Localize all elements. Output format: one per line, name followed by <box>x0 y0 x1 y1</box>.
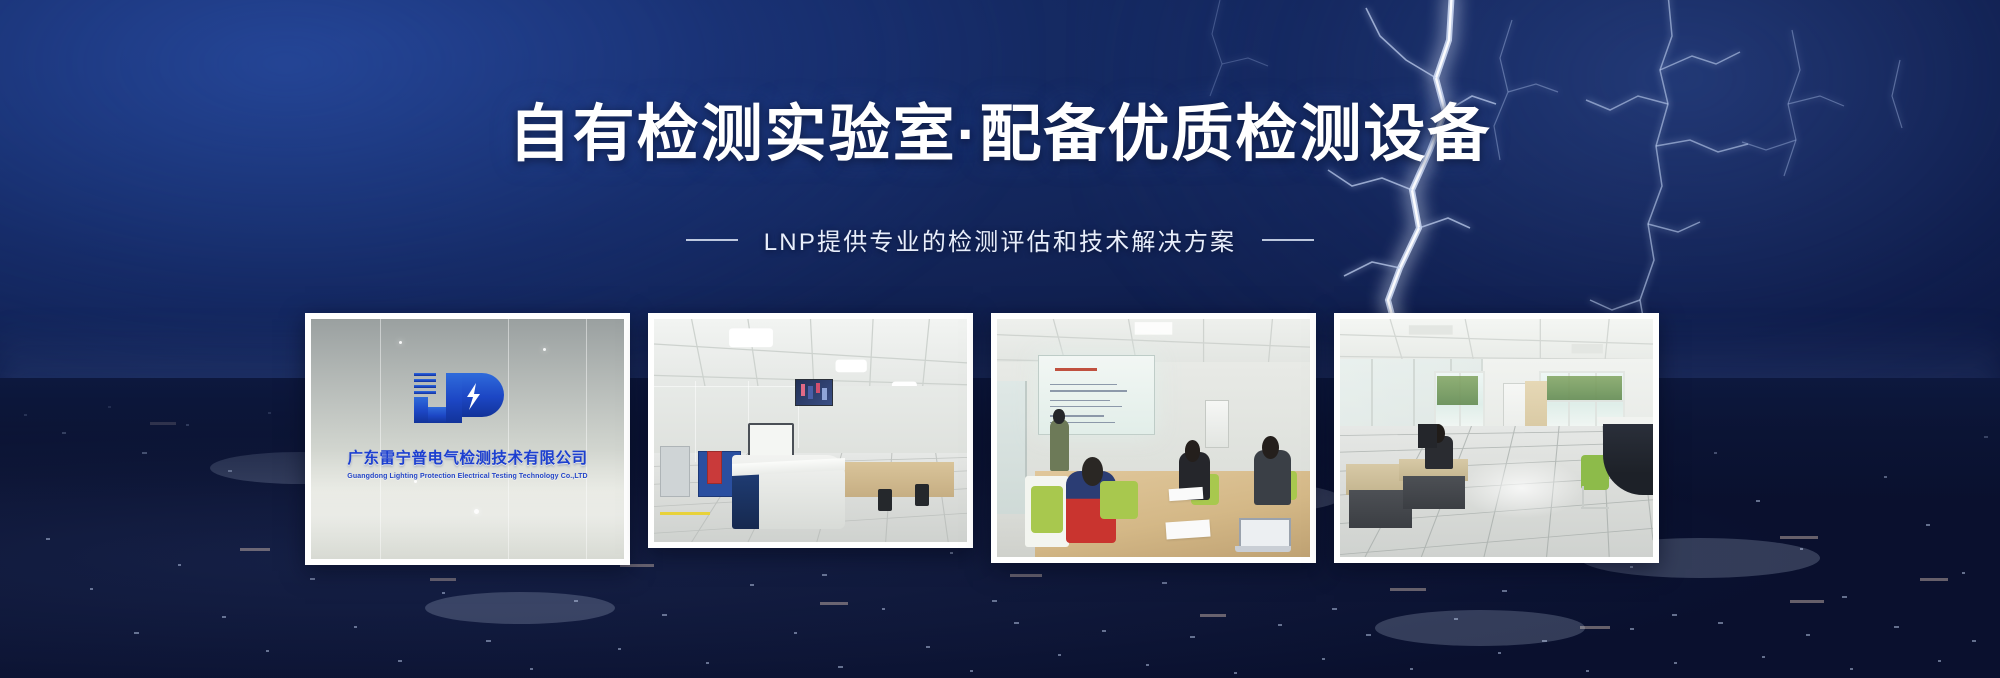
gallery-photo-logo-wall[interactable]: 广东雷宁普电气检测技术有限公司 Guangdong Lighting Prote… <box>305 313 630 565</box>
laptop-icon <box>1235 518 1291 552</box>
logo-wall-company-cn: 广东雷宁普电气检测技术有限公司 <box>347 446 587 468</box>
logo-wall-image: 广东雷宁普电气检测技术有限公司 Guangdong Lighting Prote… <box>311 319 624 559</box>
laboratory-image <box>654 319 967 542</box>
wall-display-icon <box>795 379 833 406</box>
glass-door <box>997 381 1027 514</box>
hero-banner: 自有检测实验室·配备优质检测设备 LNP提供专业的检测评估和技术解决方案 <box>0 0 2000 678</box>
photo-gallery: 广东雷宁普电气检测技术有限公司 Guangdong Lighting Prote… <box>0 0 2000 678</box>
meeting-room-image <box>997 319 1310 557</box>
air-conditioner <box>1205 400 1229 448</box>
office-image <box>1340 319 1653 557</box>
gallery-photo-office[interactable] <box>1334 313 1659 563</box>
lnp-logo-icon <box>406 367 530 429</box>
presenter-figure <box>1050 419 1069 471</box>
logo-wall-company-en: Guangdong Lighting Protection Electrical… <box>347 473 587 480</box>
gallery-photo-meeting-room[interactable] <box>991 313 1316 563</box>
computer-monitor <box>1418 424 1437 448</box>
gallery-photo-laboratory[interactable] <box>648 313 973 548</box>
